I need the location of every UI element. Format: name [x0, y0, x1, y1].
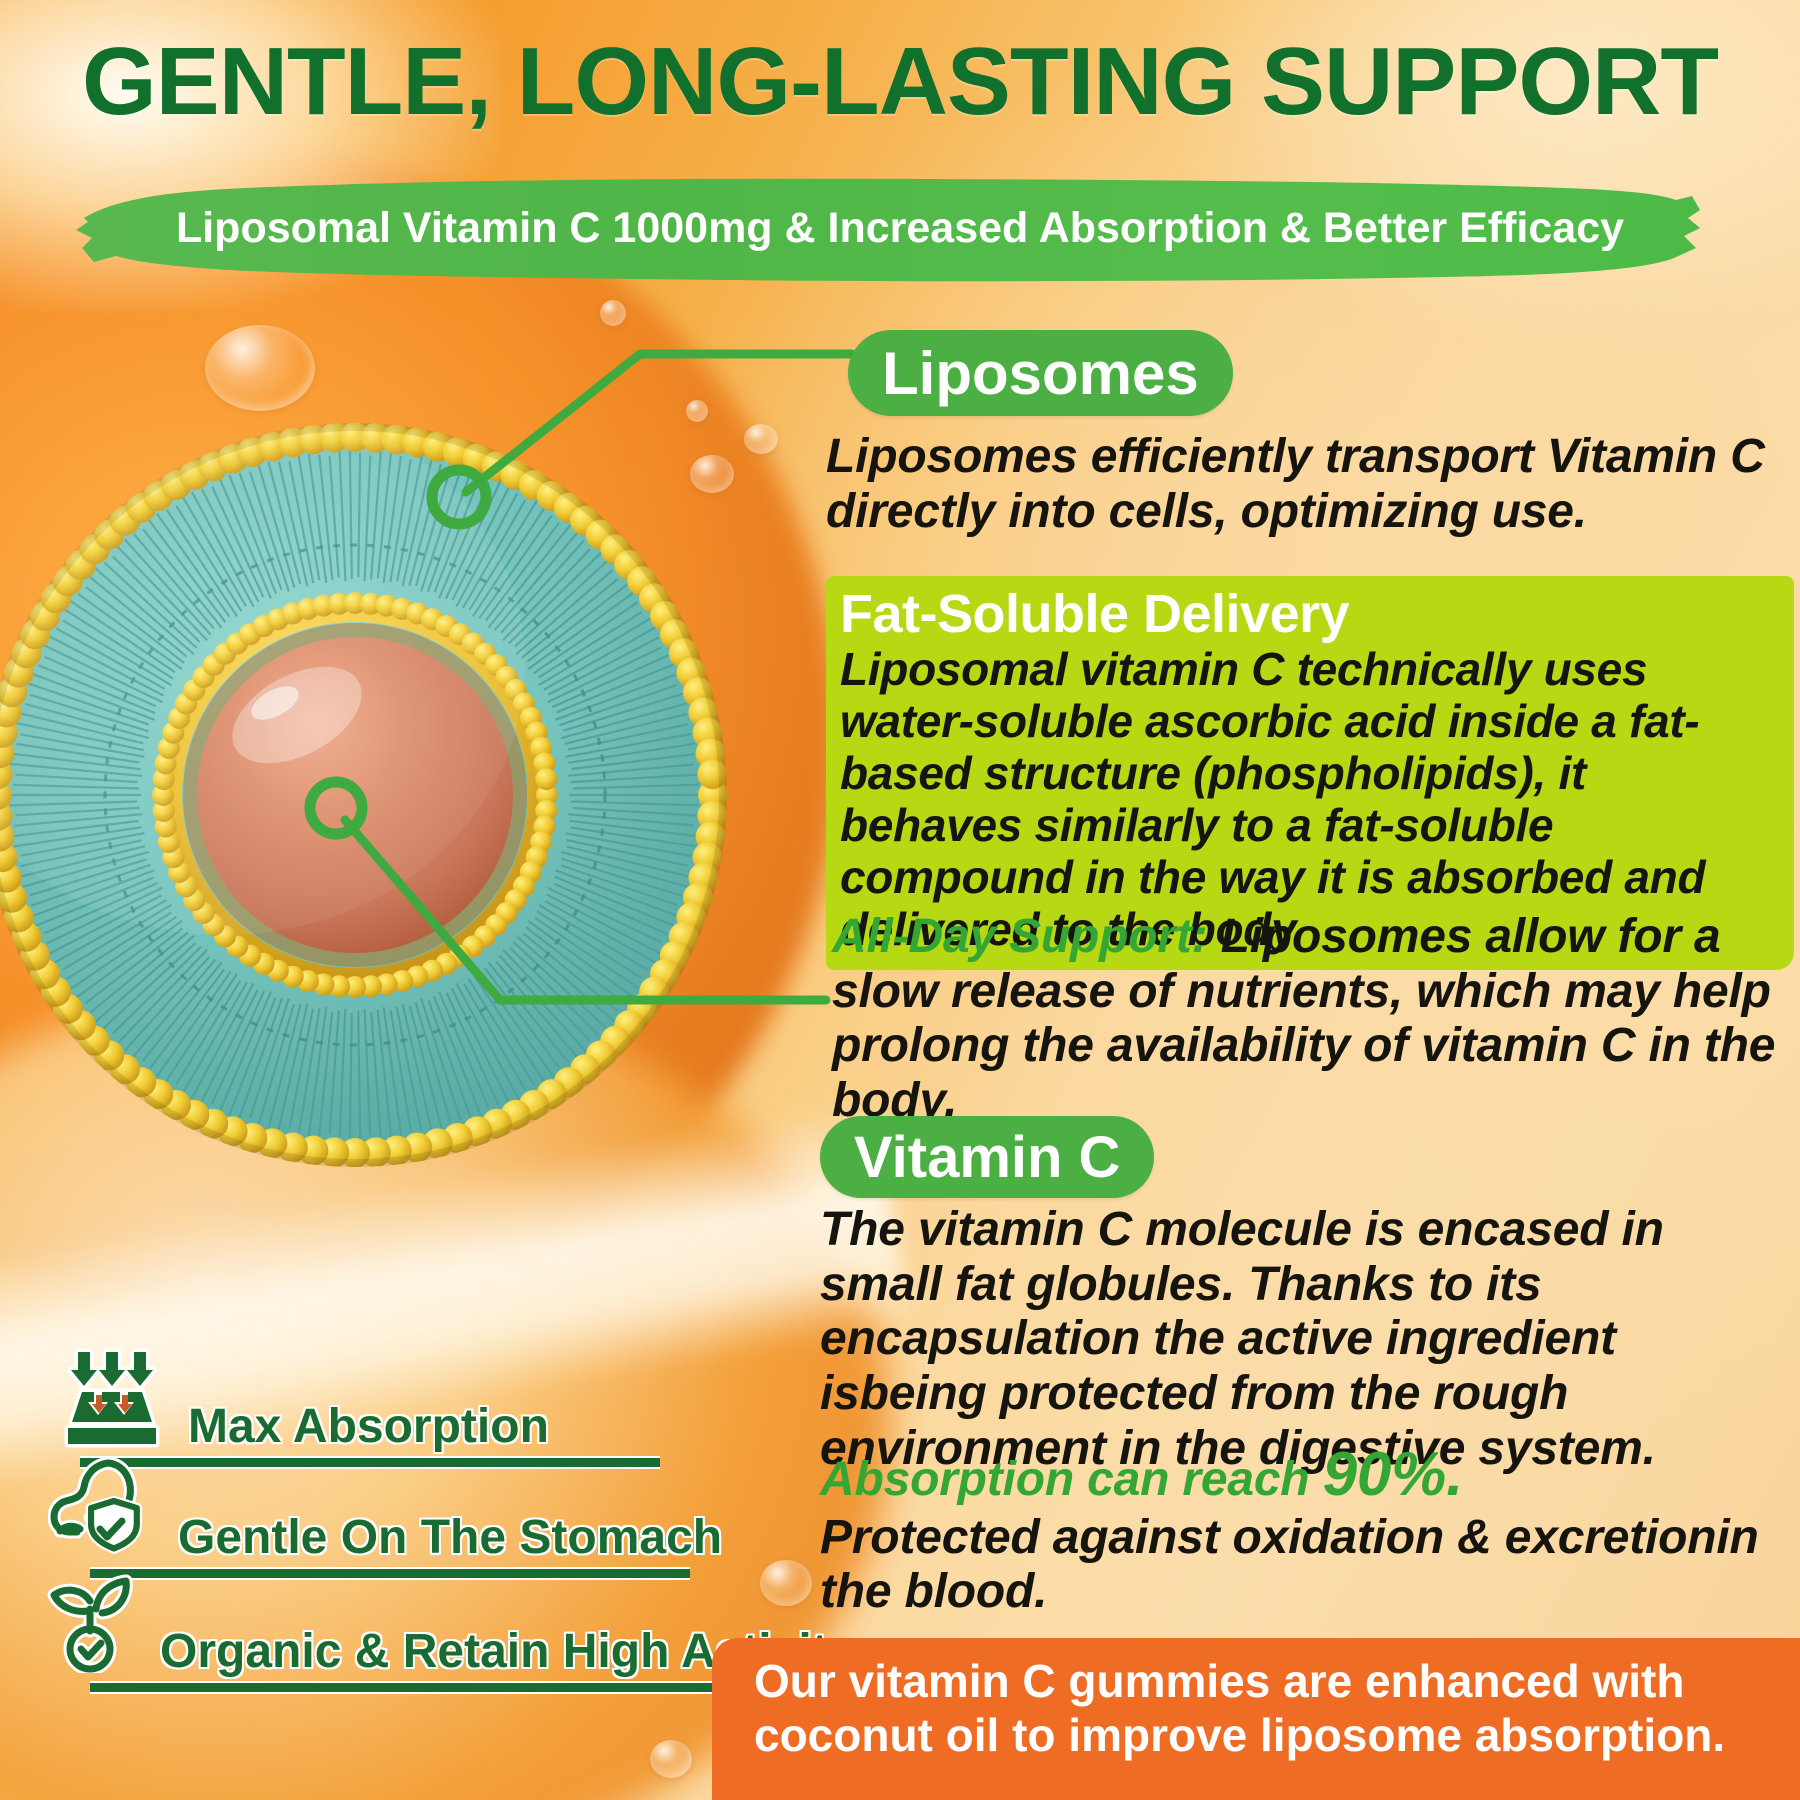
- vitamin-c-pill-label: Vitamin C: [854, 1124, 1120, 1191]
- absorption-percent: 90%.: [1323, 1440, 1464, 1509]
- sprout-check-icon: [42, 1565, 144, 1678]
- water-droplet: [744, 424, 778, 454]
- all-day-support-key: All-Day Support:: [832, 910, 1207, 963]
- fat-soluble-title: Fat-Soluble Delivery: [840, 586, 1780, 642]
- infographic-canvas: GENTLE, LONG-LASTING SUPPORT Liposomal V…: [0, 0, 1800, 1800]
- liposomes-section-pill: Liposomes: [848, 330, 1233, 416]
- water-droplet: [600, 300, 626, 326]
- bottom-banner-line-1: Our vitamin C gummies are enhanced with: [754, 1654, 1786, 1708]
- absorption-paragraph: Absorption can reach 90%.Protected again…: [820, 1440, 1795, 1620]
- feature-underline: [90, 1683, 740, 1692]
- vitamin-c-body-text: The vitamin C molecule is encased in sma…: [820, 1203, 1788, 1477]
- liposomes-body-text: Liposomes efficiently transport Vitamin …: [826, 430, 1791, 539]
- feature-label: Gentle On The Stomach: [178, 1512, 722, 1564]
- water-droplet: [205, 325, 315, 411]
- water-droplet: [650, 1740, 692, 1778]
- feature-max-absorption: Max Absorption: [58, 1348, 549, 1453]
- absorption-body: Protected against oxidation & excretioni…: [820, 1511, 1759, 1619]
- feature-label: Max Absorption: [188, 1401, 549, 1453]
- vitamin-c-section-pill: Vitamin C: [820, 1116, 1154, 1198]
- subheadline-text: Liposomal Vitamin C 1000mg & Increased A…: [0, 192, 1800, 264]
- liposome-illustration: [0, 415, 735, 1175]
- absorption-lead-text: Absorption can reach: [820, 1453, 1323, 1506]
- all-day-support-paragraph: All-Day Support: Liposomes allow for a s…: [832, 910, 1792, 1129]
- liposomes-pill-label: Liposomes: [882, 339, 1199, 408]
- bottom-banner: Our vitamin C gummies are enhanced with …: [712, 1638, 1800, 1800]
- feature-gentle-on-stomach: Gentle On The Stomach: [48, 1455, 722, 1564]
- downward-arrows-absorption-icon: [58, 1348, 166, 1453]
- page-headline: GENTLE, LONG-LASTING SUPPORT: [0, 34, 1800, 130]
- bottom-banner-line-2: coconut oil to improve liposome absorpti…: [754, 1708, 1786, 1762]
- stomach-shield-check-icon: [48, 1455, 160, 1564]
